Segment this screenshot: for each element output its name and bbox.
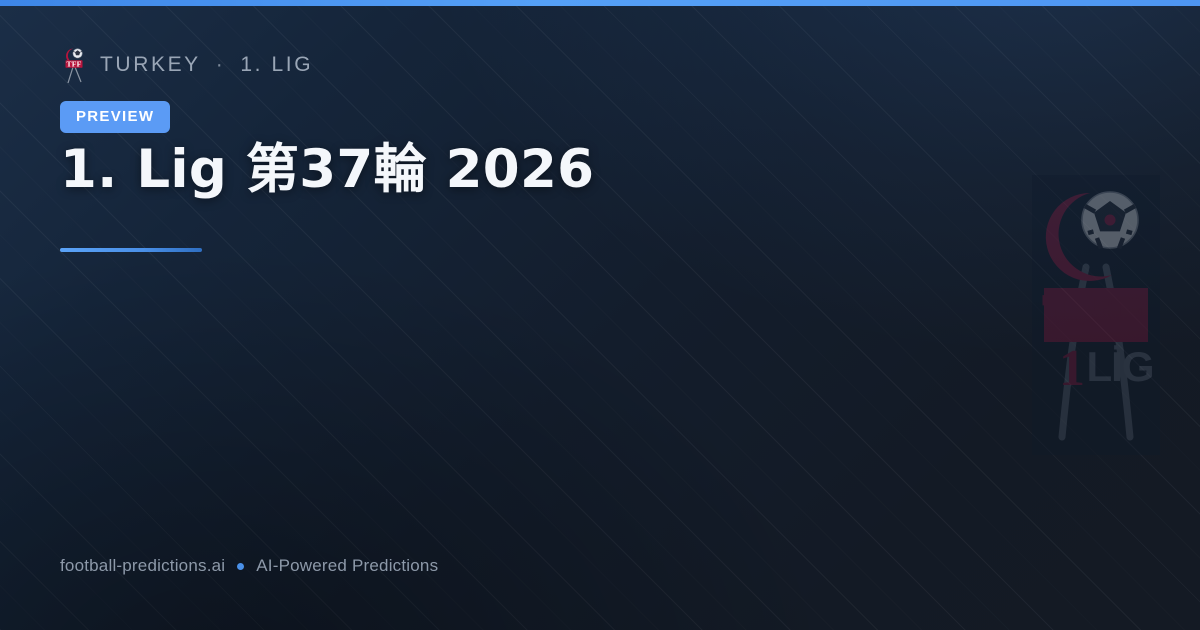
svg-text:LİG: LİG <box>1087 343 1154 390</box>
league-country-label: TURKEY <box>100 53 201 77</box>
status-badge: PREVIEW <box>60 101 170 133</box>
card-content: TFF TURKEY · 1. LIG PREVIEW 1. Lig 第37輪 … <box>60 0 1010 630</box>
league-name-label: 1. LIG <box>240 53 313 77</box>
footer: football-predictions.ai AI-Powered Predi… <box>60 556 438 576</box>
title-underline-accent <box>60 248 202 252</box>
bullet-dot-icon <box>237 563 244 570</box>
svg-text:1: 1 <box>1059 340 1085 397</box>
svg-text:TFF: TFF <box>67 59 82 68</box>
footer-tagline-label: AI-Powered Predictions <box>256 556 438 576</box>
tff-1-lig-crest-icon: TFF TFF 1 LİG <box>1032 175 1160 455</box>
svg-text:TFF: TFF <box>1042 283 1151 345</box>
footer-site-label: football-predictions.ai <box>60 556 225 576</box>
league-separator: · <box>213 53 229 77</box>
page-title: 1. Lig 第37輪 2026 <box>60 139 594 200</box>
tff-crest-icon: TFF <box>60 45 88 85</box>
og-preview-card: TFF TURKEY · 1. LIG PREVIEW 1. Lig 第37輪 … <box>0 0 1200 630</box>
league-breadcrumb: TFF TURKEY · 1. LIG <box>60 46 313 84</box>
